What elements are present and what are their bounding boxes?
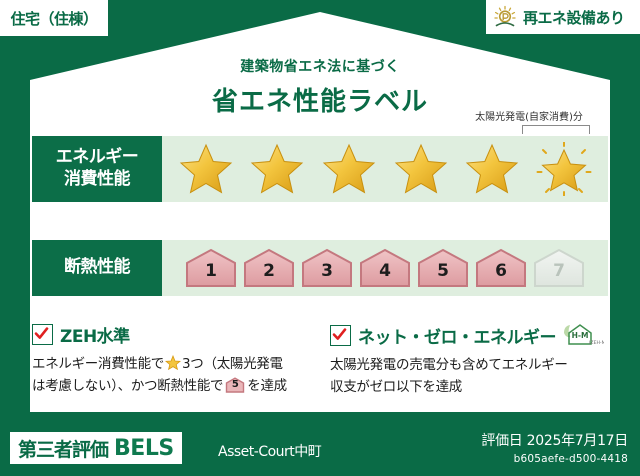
insulation-level-value: 1	[205, 261, 217, 289]
renewable-badge-label: 再エネ設備あり	[523, 7, 625, 28]
insulation-performance-row-label: 断熱性能	[32, 240, 162, 296]
insulation-label: 断熱性能	[64, 257, 130, 279]
building-type-label: 住宅（住棟）	[10, 8, 97, 29]
star-filled-5	[464, 142, 520, 196]
solar-contribution-note: 太陽光発電(自家消費)分	[454, 108, 604, 123]
net-zero-title: ネット・ゼロ・エネルギー	[358, 323, 556, 348]
net-zero-desc-line1: 太陽光発電の売電分も含めてエネルギー	[330, 357, 568, 373]
zeh-desc-part3: を達成	[247, 378, 287, 394]
solar-contribution-bracket	[522, 125, 590, 134]
insulation-level-value: 7	[553, 261, 565, 289]
zeh-title: ZEH水準	[60, 322, 130, 347]
bels-en-label: BELS	[114, 436, 174, 461]
net-zero-checkbox-checked-icon	[330, 325, 351, 346]
insulation-level-value: 4	[379, 261, 391, 289]
energy-performance-row: エネルギー 消費性能 太陽光発電(自家消費)分	[32, 136, 608, 202]
zeh-desc-star-count: 3つ（太陽光発電	[182, 356, 283, 372]
star-filled-4	[393, 142, 449, 196]
zeh-m-logo-icon: H-M (ZEH-M)	[560, 322, 604, 348]
energy-performance-label: 住宅（住棟） 再エネ設備あり 建築物省エネ法に基づく	[0, 0, 640, 476]
bels-jp-label: 第三者評価	[18, 435, 108, 462]
insulation-level-value: 3	[321, 261, 333, 289]
zeh-checkbox-checked-icon	[32, 324, 53, 345]
star-solar-6	[536, 142, 592, 196]
inline-star-icon	[165, 355, 181, 370]
evaluation-info: 評価日 2025年7月17日 b605aefe-d500-4418	[481, 430, 628, 465]
zeh-desc-part2: は考慮しない）、かつ断熱性能で	[32, 378, 223, 394]
svg-text:H-M: H-M	[572, 331, 589, 340]
insulation-level-6: 6	[473, 247, 529, 289]
insulation-level-4: 4	[357, 247, 413, 289]
insulation-level-value: 5	[437, 261, 449, 289]
svg-text:(ZEH-M): (ZEH-M)	[589, 340, 604, 346]
star-filled-3	[321, 142, 377, 196]
star-filled-1	[178, 142, 234, 196]
insulation-level-3: 3	[299, 247, 355, 289]
insulation-performance-row: 断熱性能 1 2 3 4	[32, 240, 608, 296]
bels-certification-badge: 第三者評価 BELS	[10, 432, 182, 464]
label-title-sub: 建築物省エネ法に基づく	[0, 56, 640, 76]
star-filled-2	[249, 142, 305, 196]
net-zero-description: 太陽光発電の売電分も含めてエネルギー 収支がゼロ以下を達成	[330, 355, 602, 399]
zeh-standard-block: ZEH水準 エネルギー消費性能で 3つ（太陽光発電 は考慮しない）、かつ断熱性能…	[32, 322, 304, 398]
energy-stars-container: 太陽光発電(自家消費)分	[162, 136, 608, 202]
net-zero-energy-block: ネット・ゼロ・エネルギー H-M (ZEH-M) 太陽光発電の売電分も含めてエネ…	[330, 322, 602, 399]
solar-sun-icon	[492, 5, 518, 29]
energy-label-line2: 消費性能	[64, 169, 130, 191]
insulation-level-value: 6	[495, 261, 507, 289]
energy-performance-row-label: エネルギー 消費性能	[32, 136, 162, 202]
inline-house-badge-icon: 5	[225, 377, 245, 393]
evaluation-date: 評価日 2025年7月17日	[481, 430, 628, 450]
label-footer: 第三者評価 BELS Asset-Court中町 評価日 2025年7月17日 …	[0, 420, 640, 476]
net-zero-heading: ネット・ゼロ・エネルギー H-M (ZEH-M)	[330, 322, 602, 348]
energy-label-line1: エネルギー	[56, 147, 139, 169]
insulation-level-1: 1	[183, 247, 239, 289]
insulation-levels-container: 1 2 3 4 5 6	[162, 240, 608, 296]
project-name: Asset-Court中町	[218, 441, 321, 461]
insulation-level-5: 5	[415, 247, 471, 289]
zeh-desc-part1: エネルギー消費性能で	[32, 356, 164, 372]
zeh-description: エネルギー消費性能で 3つ（太陽光発電 は考慮しない）、かつ断熱性能で 5 を達…	[32, 354, 304, 398]
zeh-heading: ZEH水準	[32, 322, 304, 347]
inline-house-value: 5	[225, 377, 245, 393]
insulation-level-7: 7	[531, 247, 587, 289]
insulation-level-2: 2	[241, 247, 297, 289]
renewable-equipment-badge: 再エネ設備あり	[486, 0, 640, 34]
evaluation-id: b605aefe-d500-4418	[481, 453, 628, 465]
net-zero-desc-line2: 収支がゼロ以下を達成	[330, 379, 462, 395]
building-type-tab: 住宅（住棟）	[0, 0, 108, 36]
insulation-level-value: 2	[263, 261, 275, 289]
